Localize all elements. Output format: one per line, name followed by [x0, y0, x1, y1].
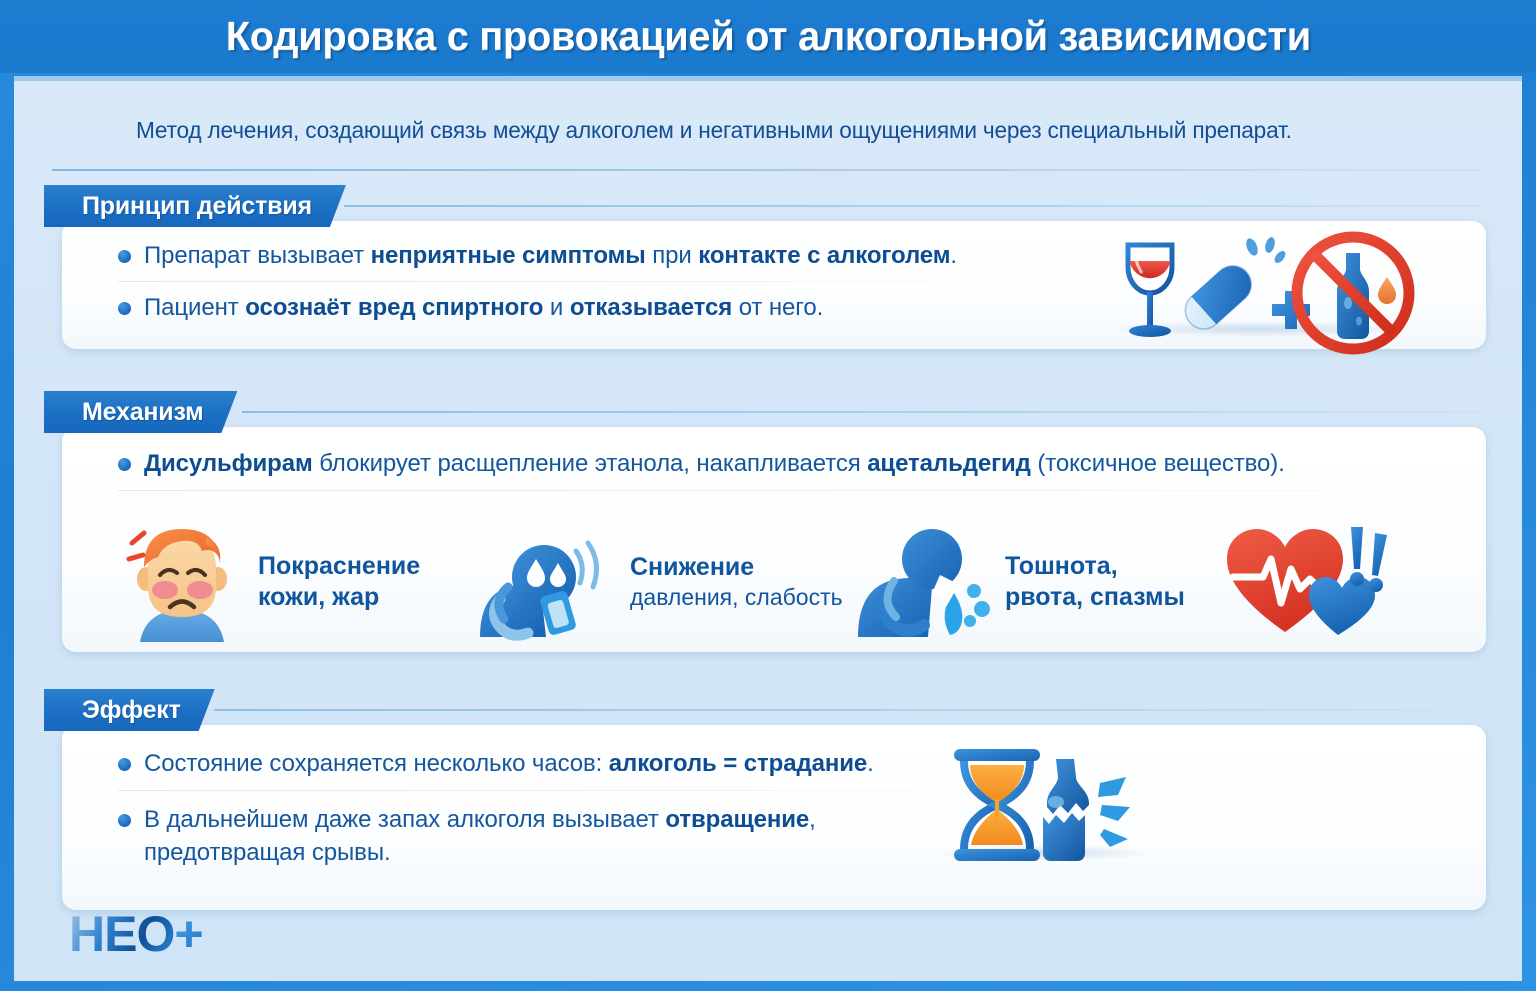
symptom-item [1198, 517, 1428, 647]
broken-bottle-icon [1028, 747, 1146, 867]
tab-rule [242, 411, 1484, 413]
list-item: Дисульфирам блокирует расщепление этанол… [118, 447, 1448, 480]
brand-logo: НЕО+ [69, 909, 203, 959]
bullet-list-mechanism: Дисульфирам блокирует расщепление этанол… [118, 447, 1448, 491]
row-divider [118, 790, 978, 791]
row-divider [118, 281, 998, 282]
no-alcohol-prohibition-icon [1288, 229, 1418, 357]
heartbeat-icon [1223, 517, 1403, 647]
section-tab-principle: Принцип действия [44, 185, 346, 227]
symptom-item: Покраснение кожи, жар [118, 517, 478, 647]
card-principle: Препарат вызывает неприятные симптомы пр… [62, 221, 1486, 349]
bullet-dot-icon [118, 458, 131, 471]
bullet-dot-icon [118, 758, 131, 771]
tab-rule [214, 709, 1484, 711]
bullet-text: Препарат вызывает неприятные симптомы пр… [144, 239, 957, 272]
card-mechanism: Дисульфирам блокирует расщепление этанол… [62, 427, 1486, 652]
bullet-list-effect: Состояние сохраняется несколько часов: а… [118, 747, 1018, 869]
card-effect: Состояние сохраняется несколько часов: а… [62, 725, 1486, 910]
section-tab-effect: Эффект [44, 689, 215, 731]
bullet-text: Состояние сохраняется несколько часов: а… [144, 747, 874, 780]
symptom-item: Снижение давления, слабость [478, 517, 858, 647]
sparkle-icon [1240, 235, 1288, 273]
dizzy-person-sweating-icon [478, 517, 618, 647]
list-item: Состояние сохраняется несколько часов: а… [118, 747, 1018, 780]
logo-text: НЕО [69, 906, 174, 962]
bullet-text: Пациент осознаёт вред спиртного и отказы… [144, 291, 823, 324]
flushed-face-icon [118, 517, 246, 647]
tab-rule [344, 205, 1484, 207]
subtitle-divider [52, 169, 1480, 171]
bullet-dot-icon [118, 250, 131, 263]
bullet-dot-icon [118, 302, 131, 315]
list-item: В дальнейшем даже запах алкоголя вызывае… [118, 803, 1018, 869]
content-panel: Метод лечения, создающий связь между алк… [14, 76, 1522, 981]
effect-icon-group [930, 741, 1160, 871]
row-divider [118, 490, 1418, 491]
list-item: Препарат вызывает неприятные симптомы пр… [118, 239, 1018, 272]
vomiting-person-icon [858, 517, 993, 647]
symptom-label: Тошнота, рвота, спазмы [1005, 551, 1185, 612]
subtitle-text: Метод лечения, создающий связь между алк… [136, 117, 1417, 144]
bullet-text: Дисульфирам блокирует расщепление этанол… [144, 447, 1285, 480]
symptom-label: Снижение давления, слабость [630, 552, 843, 611]
logo-plus-icon: + [174, 906, 202, 962]
symptom-strip: Покраснение кожи, жар [118, 519, 1448, 644]
section-tab-mechanism: Механизм [44, 391, 237, 433]
title-band: Кодировка с провокацией от алкогольной з… [0, 0, 1536, 73]
list-item: Пациент осознаёт вред спиртного и отказы… [118, 291, 1018, 324]
bullet-dot-icon [118, 814, 131, 827]
bullet-list-principle: Препарат вызывает неприятные симптомы пр… [118, 239, 1018, 324]
symptom-label: Покраснение кожи, жар [258, 551, 420, 612]
principle-icon-group [1092, 229, 1412, 347]
page-title: Кодировка с провокацией от алкогольной з… [225, 13, 1310, 60]
symptom-item: Тошнота, рвота, спазмы [858, 517, 1198, 647]
infographic-poster: Кодировка с провокацией от алкогольной з… [0, 0, 1536, 991]
bullet-text: В дальнейшем даже запах алкоголя вызывае… [144, 803, 904, 869]
